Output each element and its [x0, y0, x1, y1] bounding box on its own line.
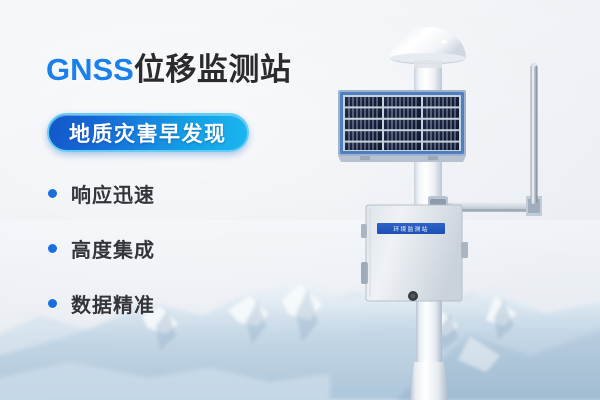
headline-suffix: 位移监测站: [134, 52, 292, 87]
enclosure-label-text: 环境监测站: [393, 224, 428, 233]
tagline-badge: 地质灾害早发现: [47, 113, 249, 152]
page-title: GNSS位移监测站: [46, 54, 291, 85]
feature-label: 数据精准: [71, 289, 155, 318]
feature-label: 响应迅速: [71, 179, 155, 208]
feature-label: 高度集成: [71, 234, 155, 263]
list-item: 响应迅速: [48, 180, 155, 206]
feature-list: 响应迅速 高度集成 数据精准: [48, 180, 155, 316]
promo-banner: 环境监测站 GNSS位移监测站 地质灾害早发现 响应迅速 高度集成 数据精准: [0, 0, 600, 400]
list-item: 高度集成: [48, 235, 155, 261]
gnss-station-illustration: 环境监测站: [330, 0, 600, 400]
bullet-dot-icon: [48, 244, 57, 253]
tagline-text: 地质灾害早发现: [69, 118, 227, 148]
bullet-dot-icon: [48, 299, 57, 308]
marketing-copy: GNSS位移监测站 地质灾害早发现 响应迅速 高度集成 数据精准: [0, 0, 340, 400]
list-item: 数据精准: [48, 290, 155, 316]
bullet-dot-icon: [48, 189, 57, 198]
enclosure-label: 环境监测站: [377, 223, 445, 234]
headline-brand: GNSS: [46, 52, 134, 87]
